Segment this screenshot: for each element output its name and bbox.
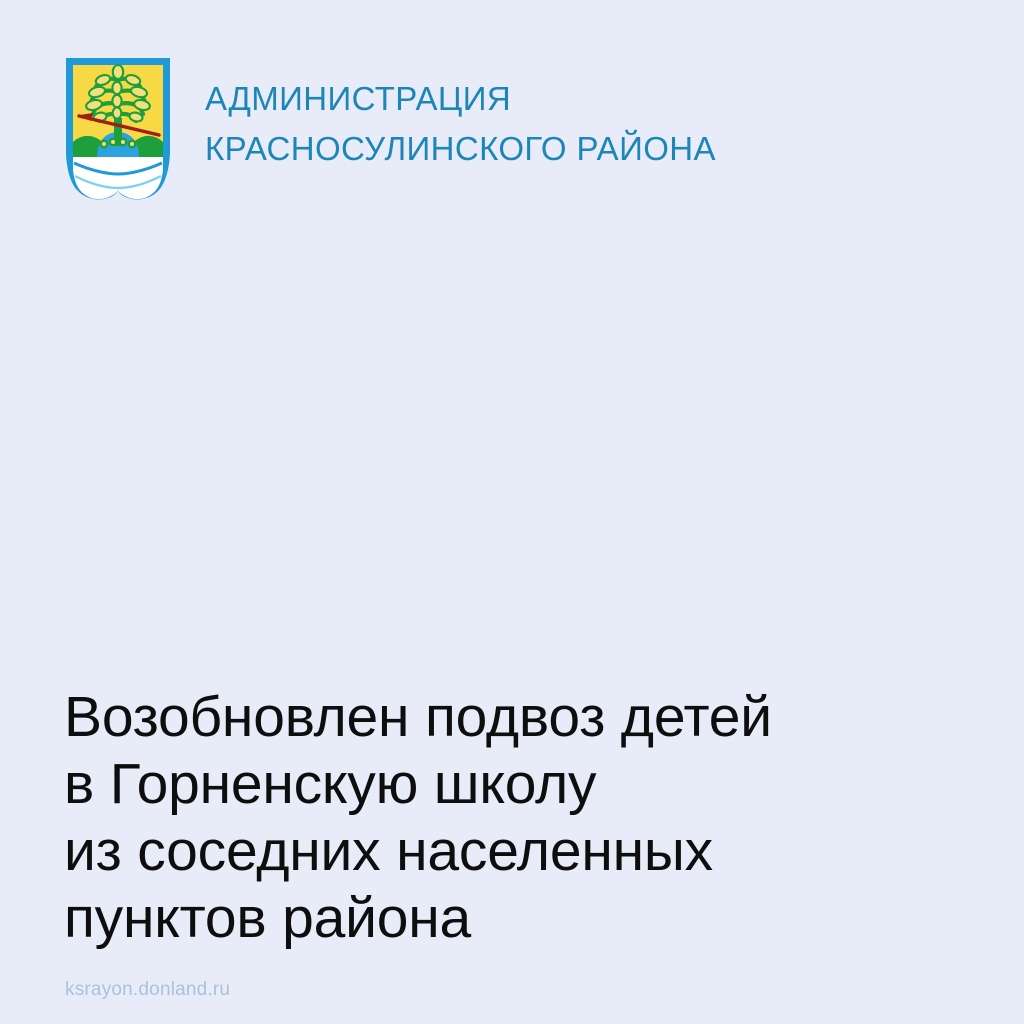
water-field [73, 157, 163, 199]
source-url[interactable]: ksrayon.donland.ru [65, 979, 230, 1001]
headline: Возобновлен подвоз детей в Горненскую шк… [64, 684, 964, 952]
headline-line-1: Возобновлен подвоз детей [64, 684, 964, 751]
brand-title-line-2: КРАСНОСУЛИНСКОГО РАЙОНА [205, 124, 716, 174]
brand-title-line-1: АДМИНИСТРАЦИЯ [205, 74, 716, 124]
coat-of-arms-icon [64, 56, 172, 206]
headline-line-2: в Горненскую школу [64, 751, 964, 818]
headline-line-4: пунктов района [64, 885, 964, 952]
headline-line-3: из соседних населенных [64, 818, 964, 885]
brand-header: АДМИНИСТРАЦИЯ КРАСНОСУЛИНСКОГО РАЙОНА [64, 56, 716, 206]
brand-title: АДМИНИСТРАЦИЯ КРАСНОСУЛИНСКОГО РАЙОНА [205, 74, 716, 174]
news-card: АДМИНИСТРАЦИЯ КРАСНОСУЛИНСКОГО РАЙОНА Во… [0, 0, 1024, 1024]
